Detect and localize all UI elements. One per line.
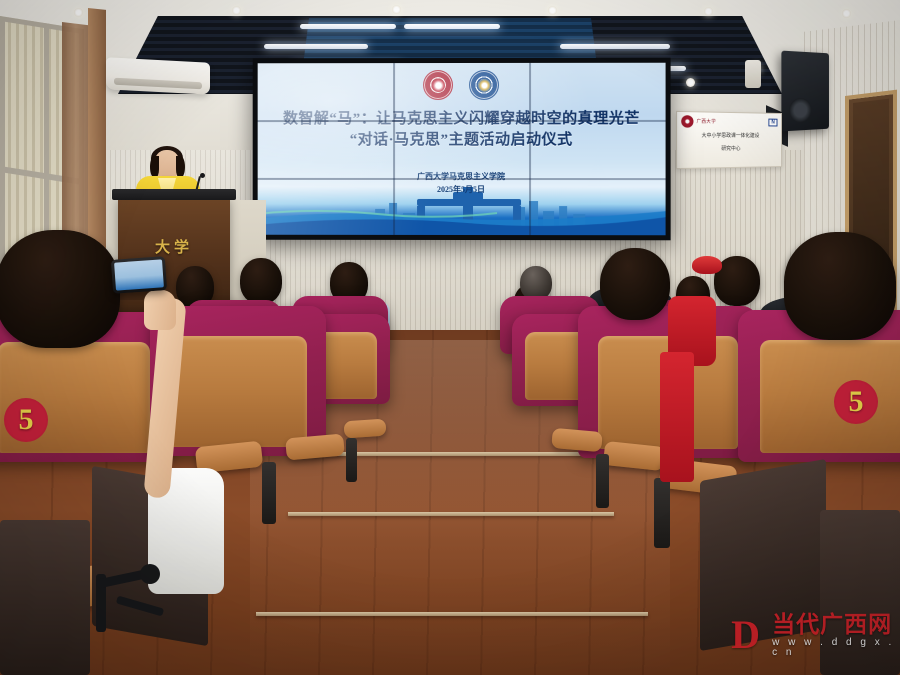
ceiling-downlight [74,8,83,17]
seat-side-panel [0,520,90,675]
plaque-university: 广西大学 [697,118,717,124]
slide-subtitle: 广西大学马克思主义学院 2025年5月5日 [258,171,666,197]
speaker-driver-icon [789,98,811,123]
loudspeaker [781,51,829,132]
slide-title: 数智解“马”：让马克思主义闪耀穿越时空的真理光芒 “对话·马克思”主题活动启动仪… [258,109,666,152]
watermark: D 当代广西网 w w w . d d g x . c n [726,612,900,658]
lectern-top [112,189,236,200]
audience-head-foreground [0,230,120,348]
seat-number-badge: 5 [834,380,878,424]
aisle-step-nosing [300,452,600,456]
seat-pedestal [596,454,609,508]
camera-rig [96,556,180,626]
seat-pedestal [262,462,276,524]
ddgx-logo-icon: D [726,612,765,658]
phone-screen [114,259,164,290]
wall-light-fixture [745,60,761,88]
rig-grip[interactable] [140,564,160,584]
audience-red-shirt [660,352,694,482]
event-photograph: 广西大学 N 大中小学思政课一体化建设 研究中心 [0,0,900,675]
panel-seam-vertical [529,63,531,235]
panel-seam-horizontal [258,120,666,122]
seat-wood-panel [760,340,900,453]
rig-arm [116,596,164,617]
watermark-text: 当代广西网 w w w . d d g x . c n [772,613,900,658]
ceiling-strip-light [300,24,396,29]
microphone-head-icon [200,173,205,178]
seat-armrest [343,419,386,439]
presenter-hair-side [150,156,159,178]
ceiling-downlight [686,78,695,87]
emblem-core-icon [478,78,491,91]
audience-head [240,258,282,304]
slide-title-line-2: “对话·马克思”主题活动启动仪式 [264,130,660,151]
ceiling-downlight [232,6,241,15]
audience-head-foreground [784,232,896,340]
panel-seam-horizontal [258,177,666,179]
ceiling-downlight [392,5,401,14]
wall-plaque: 广西大学 N 大中小学思政课一体化建设 研究中心 [676,111,782,169]
institute-emblem-blue-icon [469,70,499,100]
ceiling-strip-light [404,24,500,29]
audience-head-foreground [600,248,670,320]
watermark-url: w w w . d d g x . c n [772,638,900,658]
ceiling-strip-light [264,44,368,49]
ceiling-downlight [548,6,557,15]
aisle-step-nosing [256,612,648,616]
ceiling-downlight [704,7,713,16]
seat-number-badge: 5 [4,398,48,442]
panel-seam-vertical [393,63,395,235]
seat-pedestal [654,478,670,548]
ceiling-downlight [842,9,851,18]
lectern-inscription: 大学 [118,236,230,257]
smartphone[interactable] [111,256,167,294]
plaque-badge: N [769,119,778,127]
emblem-core-icon [432,79,445,92]
seat-wood-panel [169,336,306,447]
audience-head [520,266,552,300]
ceiling-strip-light [560,44,670,49]
university-logo-icon [681,115,693,128]
ac-vent [114,78,202,90]
seat-armrest [551,428,603,452]
hair-ribbon [692,256,722,274]
plaque-line-2: 研究中心 [681,145,777,153]
presenter-hair-side [176,156,185,178]
plaque-header: 广西大学 N [681,115,777,128]
photographer-hand [144,290,176,330]
university-emblem-red-icon [423,70,453,100]
aisle-step-nosing [288,512,614,516]
watermark-title: 当代广西网 [772,613,900,636]
slide-date: 2025年5月5日 [258,184,666,197]
slide-logo-row [258,70,666,100]
video-wall-display: 数智解“马”：让马克思主义闪耀穿越时空的真理光芒 “对话·马克思”主题活动启动仪… [253,58,671,241]
plaque-line-1: 大中小学思政课一体化建设 [681,133,777,141]
presentation-slide: 数智解“马”：让马克思主义闪耀穿越时空的真理光芒 “对话·马克思”主题活动启动仪… [258,63,666,236]
seat-pedestal [346,438,357,482]
wave-graphic [258,205,666,235]
air-conditioner [106,57,210,94]
